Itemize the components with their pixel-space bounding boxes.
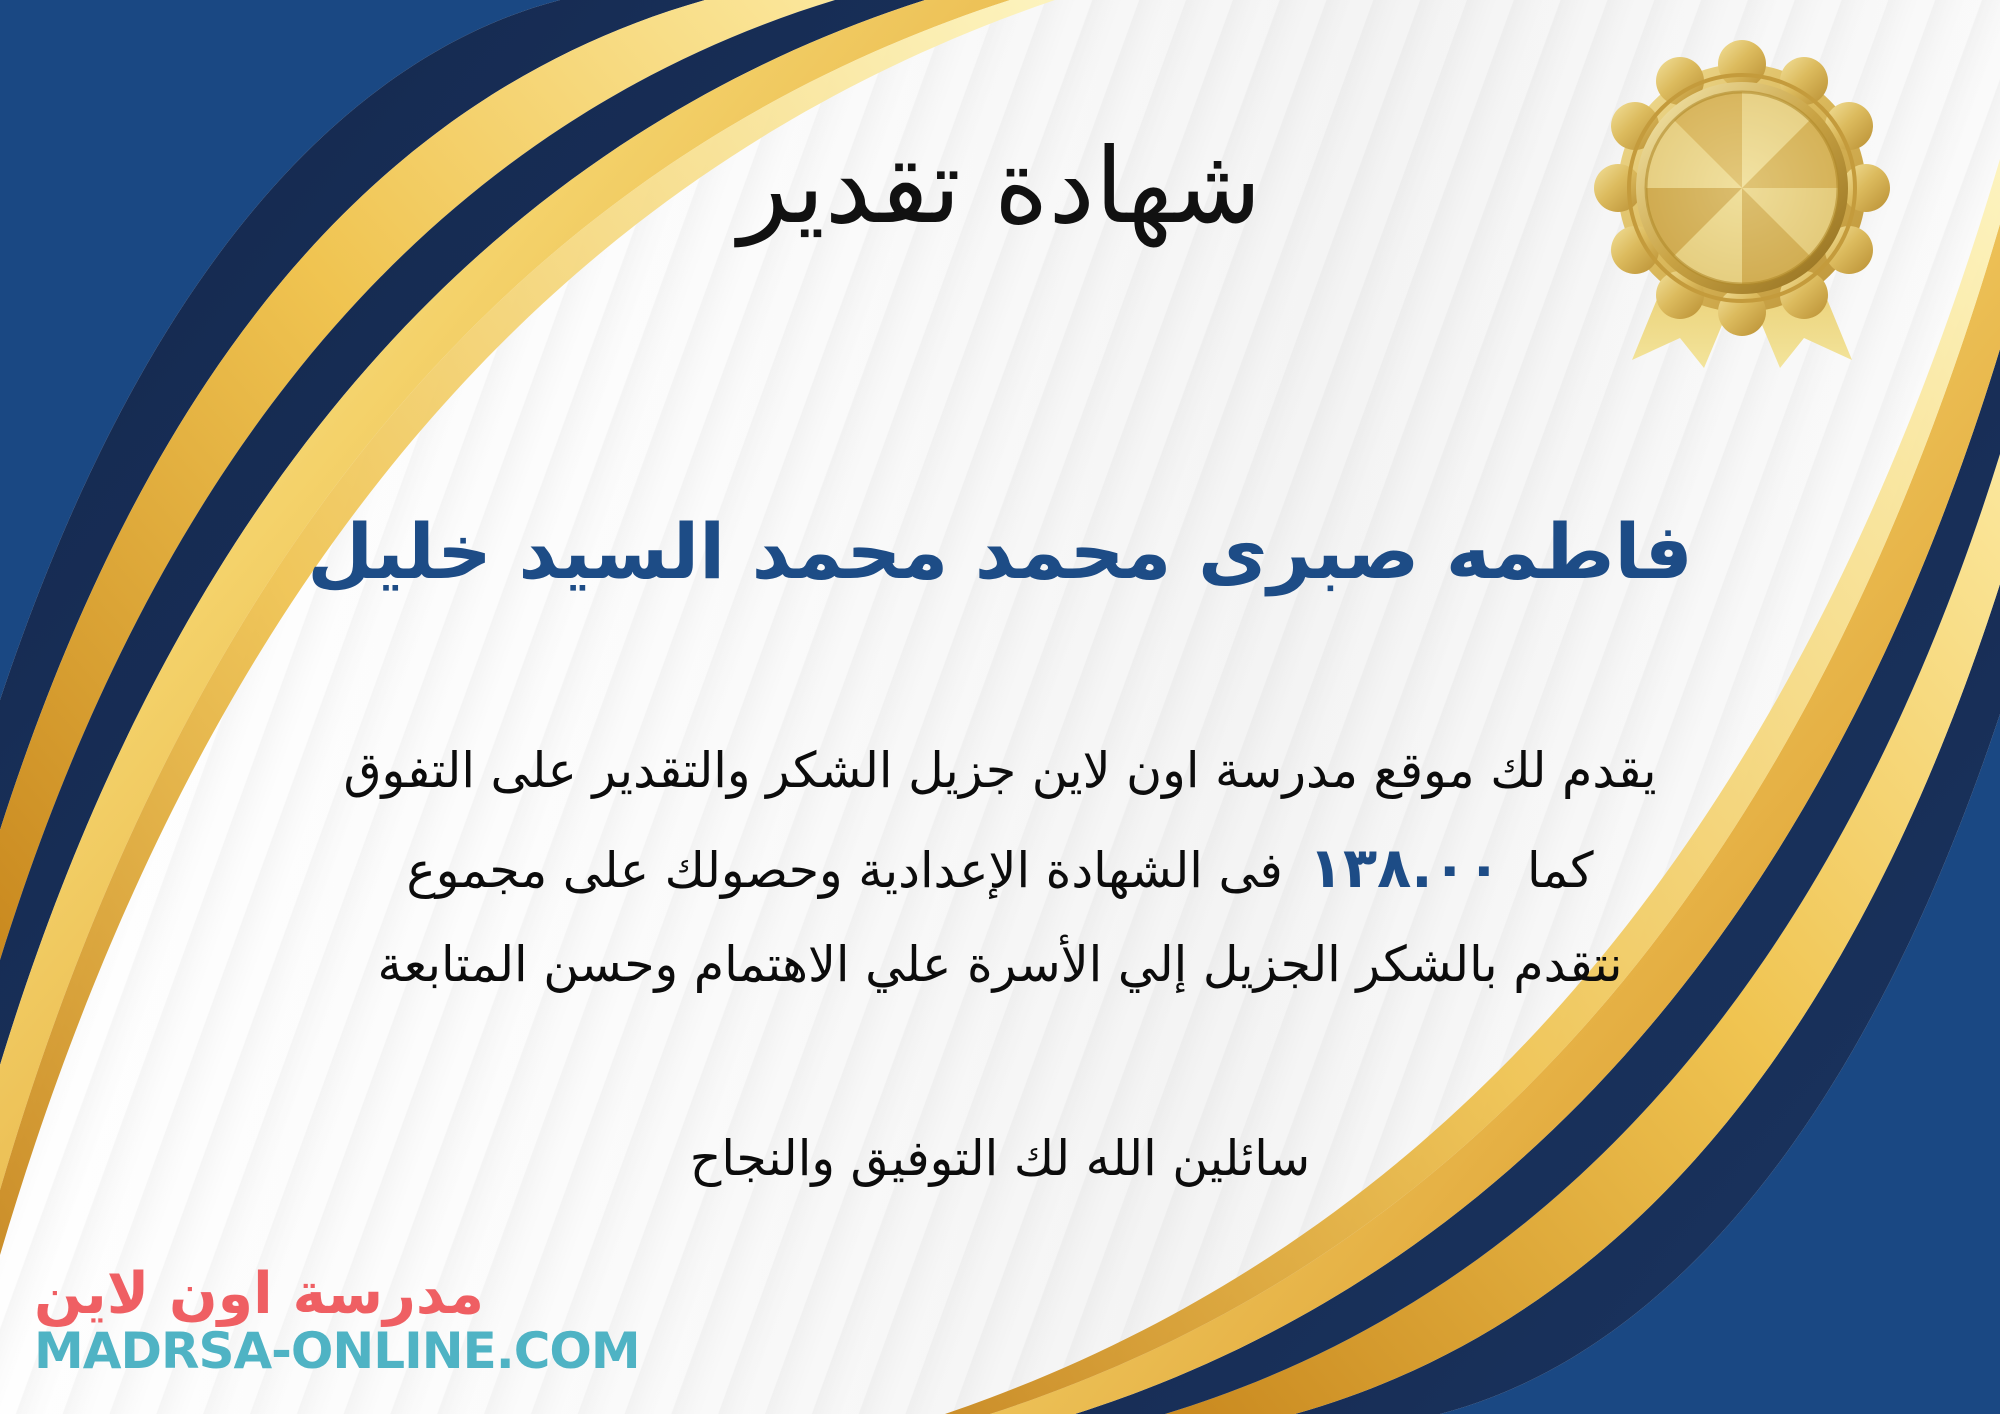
grade-line-prefix: فى الشهادة الإعدادية وحصولك على مجموع xyxy=(406,842,1282,899)
brand-website: MADRSA-ONLINE.COM xyxy=(34,1325,640,1378)
body-line-1: يقدم لك موقع مدرسة اون لاين جزيل الشكر و… xyxy=(55,726,1945,817)
grade-line: كما١٣٨.٠٠فى الشهادة الإعدادية وحصولك على… xyxy=(55,817,1945,921)
grade-score: ١٣٨.٠٠ xyxy=(1283,836,1527,901)
brand-logo: مدرسة اون لاين MADRSA-ONLINE.COM xyxy=(28,1246,588,1396)
closing-line: سائلين الله لك التوفيق والنجاح xyxy=(0,1130,2000,1187)
brand-logo-text: مدرسة اون لاين MADRSA-ONLINE.COM xyxy=(34,1265,640,1377)
certificate-canvas: شهادة تقدير فاطمه صبرى محمد محمد السيد خ… xyxy=(0,0,2000,1414)
certificate-title: شهادة تقدير xyxy=(0,132,2000,241)
brand-arabic-name: مدرسة اون لاين xyxy=(34,1265,484,1325)
body-line-2: نتقدم بالشكر الجزيل إلي الأسرة علي الاهت… xyxy=(55,920,1945,1011)
certificate-body: يقدم لك موقع مدرسة اون لاين جزيل الشكر و… xyxy=(55,726,1945,1011)
recipient-name: فاطمه صبرى محمد محمد السيد خليل xyxy=(60,508,1940,595)
grade-line-suffix: كما xyxy=(1527,842,1594,899)
